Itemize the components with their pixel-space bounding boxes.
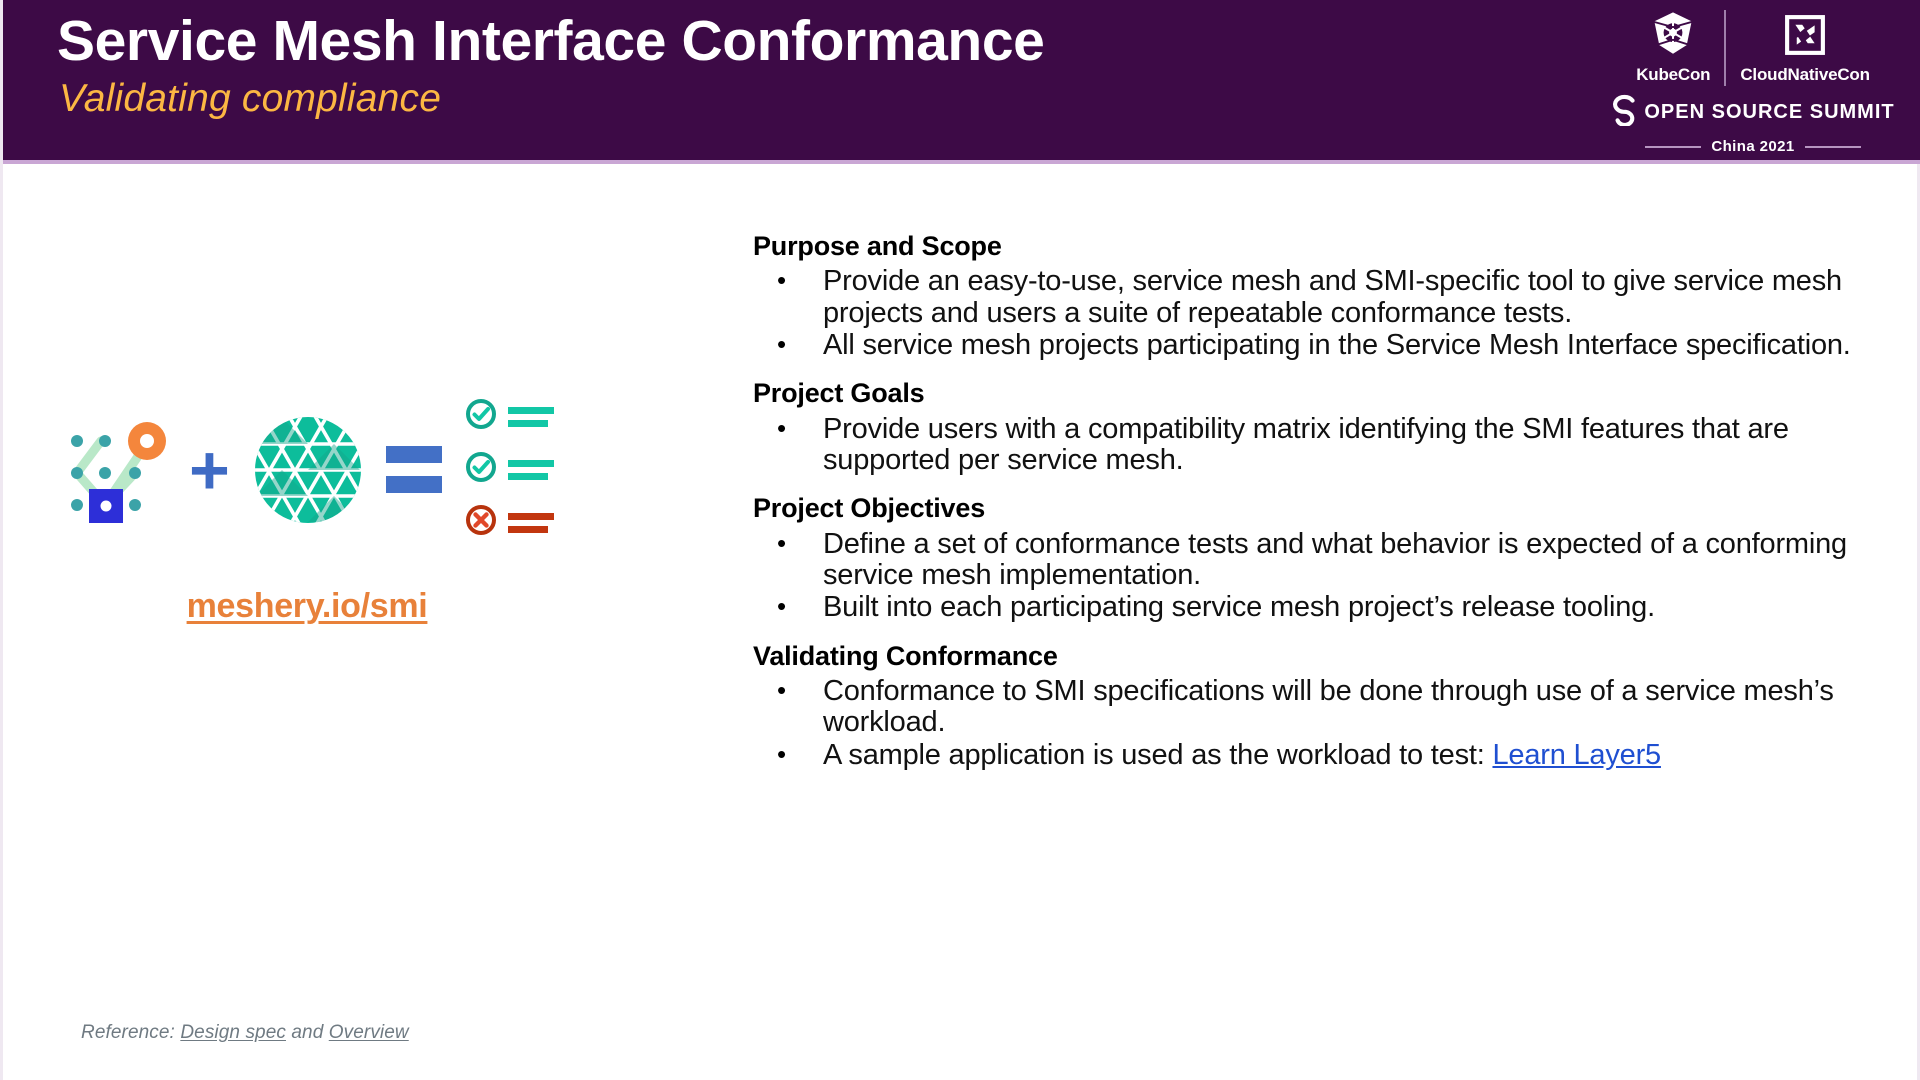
result-bars: [508, 513, 554, 533]
list-item-text: A sample application is used as the work…: [823, 739, 1492, 771]
list-item: Built into each participating service me…: [753, 592, 1873, 623]
list-item: Define a set of conformance tests and wh…: [753, 529, 1873, 592]
plus-symbol: +: [189, 435, 230, 505]
result-bars: [508, 460, 554, 480]
learn-layer5-link[interactable]: Learn Layer5: [1492, 739, 1661, 771]
left-graphic-panel: +: [3, 164, 743, 1080]
list-item: Provide users with a compatibility matri…: [753, 414, 1873, 477]
summit-label: OPEN SOURCE SUMMIT: [1644, 101, 1894, 124]
result-row: [464, 397, 554, 436]
conformance-results-list: [464, 397, 554, 542]
meshery-logo-icon: [252, 414, 364, 526]
meshery-smi-link[interactable]: meshery.io/smi: [187, 587, 428, 625]
section-heading-purpose-and-scope: Purpose and Scope: [753, 230, 1873, 262]
bullet-list-validating-conformance: Conformance to SMI specifications will b…: [753, 676, 1873, 771]
summit-year-row: China 2021: [1619, 138, 1887, 155]
cloudnativecon-label: CloudNativeCon: [1740, 65, 1869, 85]
section-heading-project-goals: Project Goals: [753, 377, 1873, 409]
list-item: Conformance to SMI specifications will b…: [753, 676, 1873, 739]
overview-link[interactable]: Overview: [329, 1022, 409, 1043]
summit-spiral-icon: [1611, 94, 1641, 131]
section-heading-project-objectives: Project Objectives: [753, 492, 1873, 524]
meshery-link-container: meshery.io/smi: [3, 587, 611, 626]
design-spec-link[interactable]: Design spec: [180, 1022, 286, 1043]
cncf-square-icon: [1783, 8, 1827, 62]
logo-brand-row: KubeCon CloudNativeCon: [1619, 8, 1887, 96]
bullet-list-project-goals: Provide users with a compatibility matri…: [753, 414, 1873, 477]
summit-year-label: China 2021: [1711, 138, 1794, 155]
list-item: Provide an easy-to-use, service mesh and…: [753, 266, 1873, 329]
x-circle-icon: [464, 503, 498, 542]
reference-footer: Reference: Design spec and Overview: [81, 1022, 409, 1044]
header-text-block: Service Mesh Interface Conformance Valid…: [57, 10, 1557, 121]
kubecon-brand: KubeCon: [1622, 8, 1724, 85]
kubernetes-helm-icon: [1648, 8, 1698, 62]
kubecon-label: KubeCon: [1636, 65, 1710, 85]
cloudnativecon-brand: CloudNativeCon: [1726, 8, 1883, 85]
conference-logo: KubeCon CloudNativeCon: [1619, 8, 1887, 156]
list-item: All service mesh projects participating …: [753, 330, 1873, 361]
smi-logo-icon: [59, 415, 167, 525]
reference-prefix: Reference:: [81, 1022, 180, 1043]
check-circle-icon: [464, 450, 498, 489]
conformance-equation: +: [59, 397, 554, 542]
result-row: [464, 450, 554, 489]
bullet-list-project-objectives: Define a set of conformance tests and wh…: [753, 529, 1873, 624]
list-item: A sample application is used as the work…: [753, 740, 1873, 771]
bullet-list-purpose-and-scope: Provide an easy-to-use, service mesh and…: [753, 266, 1873, 361]
slide-header: Service Mesh Interface Conformance Valid…: [3, 0, 1920, 164]
check-circle-icon: [464, 397, 498, 436]
reference-conjunction: and: [286, 1022, 329, 1043]
section-heading-validating-conformance: Validating Conformance: [753, 640, 1873, 672]
year-rule-left: [1645, 146, 1701, 148]
open-source-summit-row: OPEN SOURCE SUMMIT: [1619, 94, 1887, 131]
result-row: [464, 503, 554, 542]
page-subtitle: Validating compliance: [59, 78, 1557, 121]
result-bars: [508, 407, 554, 427]
equals-symbol: [386, 446, 442, 493]
page-title: Service Mesh Interface Conformance: [57, 10, 1557, 74]
content-column: Purpose and Scope Provide an easy-to-use…: [753, 230, 1873, 772]
slide: Service Mesh Interface Conformance Valid…: [0, 0, 1920, 1080]
year-rule-right: [1805, 146, 1861, 148]
